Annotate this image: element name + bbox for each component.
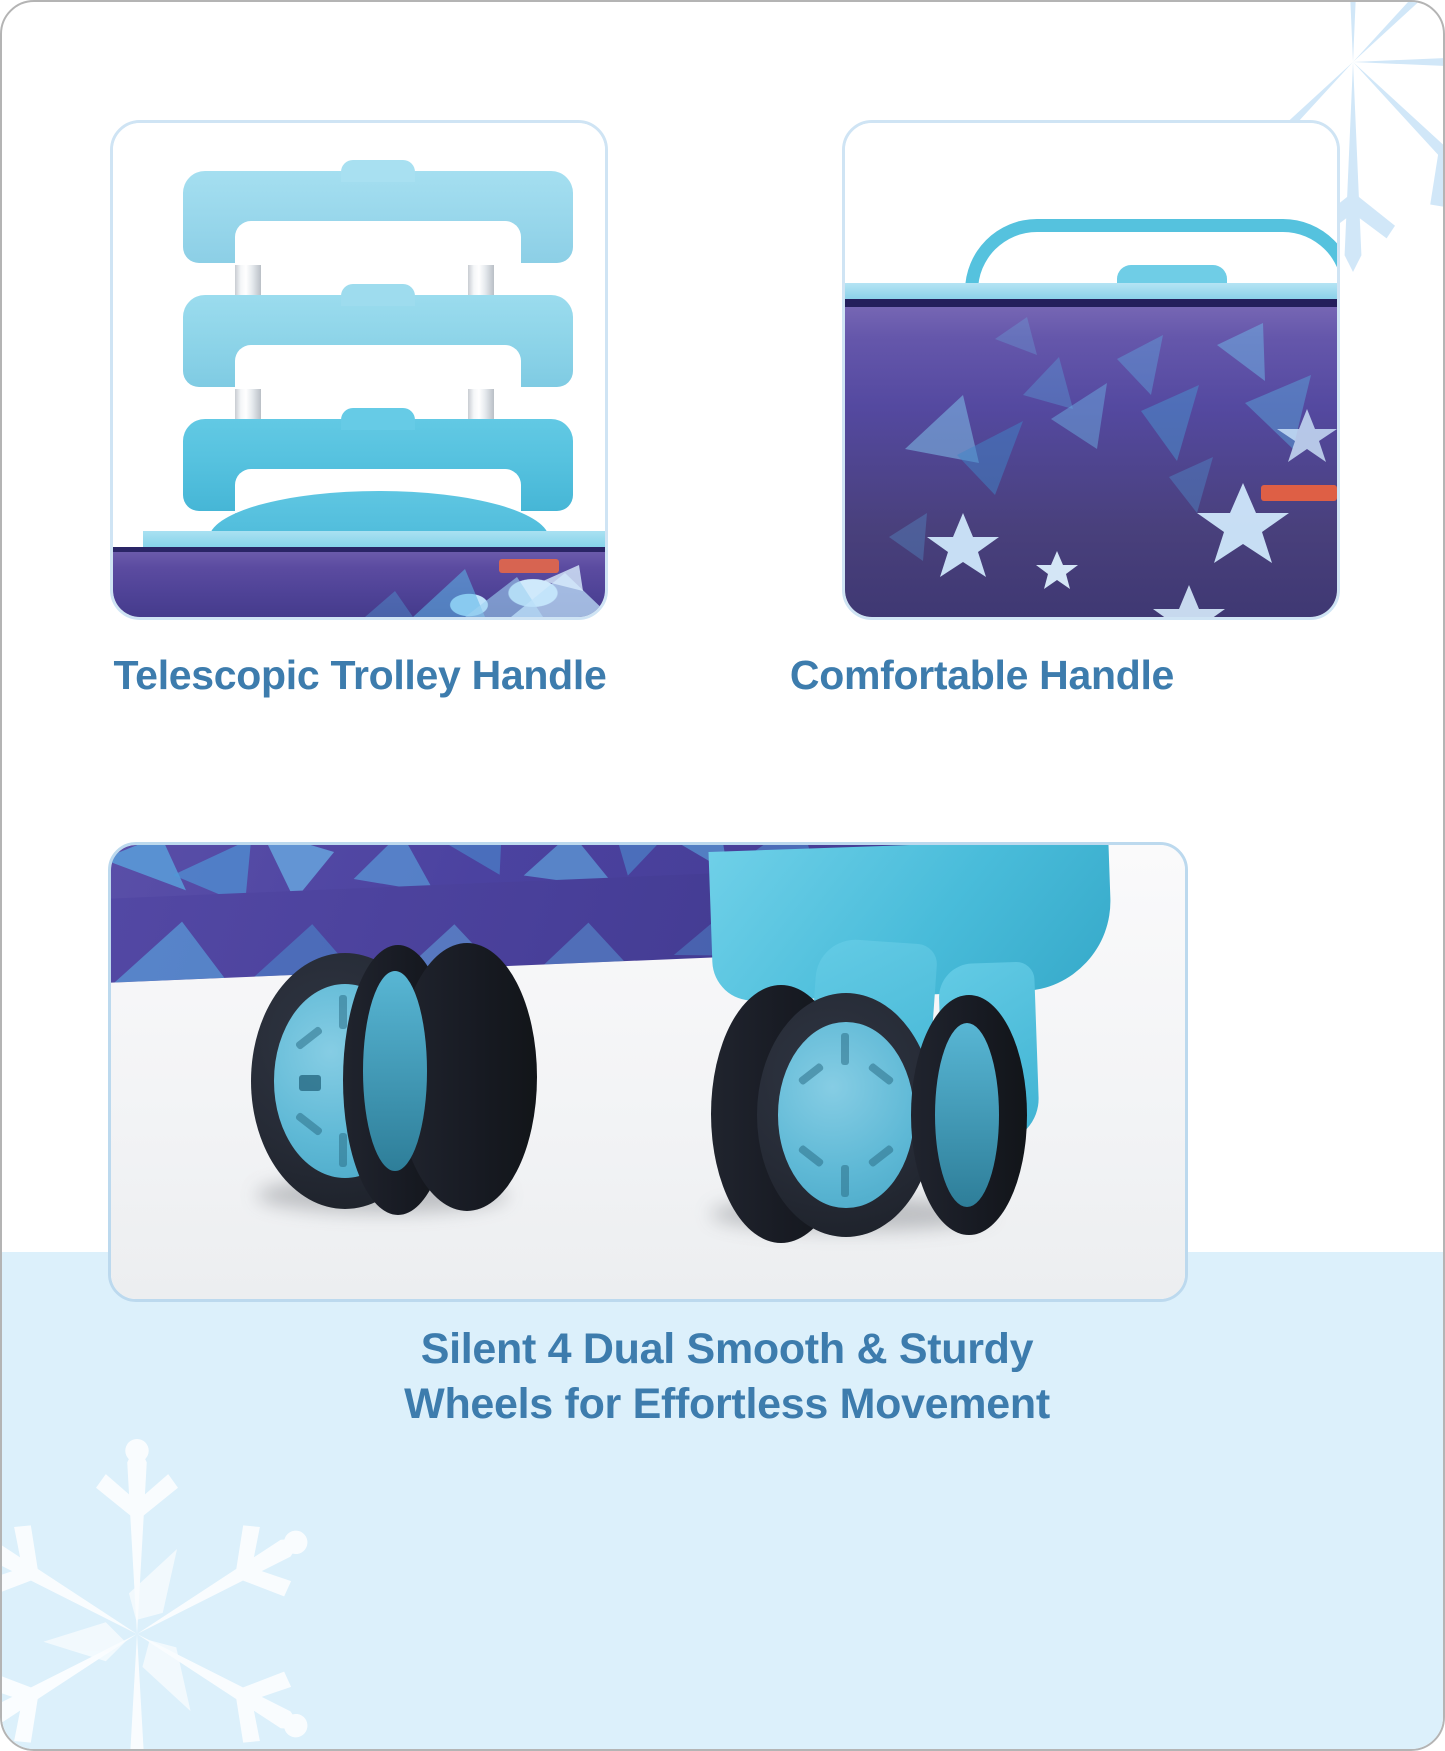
feature-image-spinner-wheels (108, 842, 1188, 1302)
handle-nub (341, 160, 415, 182)
trolley-handle-stage-1 (183, 171, 573, 263)
comfortable-handle-illustration (845, 123, 1337, 617)
shell-star-pattern (845, 299, 1337, 617)
handle-nub (341, 284, 415, 306)
shell-pattern (113, 547, 605, 617)
wheel-axle-right (935, 1023, 999, 1207)
product-feature-card: Telescopic Trolley Handle Comfortable Ha… (0, 0, 1445, 1751)
caption-line-2: Wheels for Effortless Movement (122, 1377, 1332, 1432)
wheels-illustration (111, 845, 1185, 1299)
telescopic-handle-illustration (113, 123, 605, 617)
feature-image-comfortable-handle (842, 120, 1340, 620)
wheel-front-right (757, 993, 935, 1237)
wheel-hub (778, 1022, 913, 1207)
wheel-axle-left (363, 971, 427, 1171)
case-shell-body (845, 299, 1337, 617)
handle-nub (341, 408, 415, 430)
feature-panels-row (110, 120, 1340, 620)
caption-comfortable-handle: Comfortable Handle (702, 650, 1262, 700)
case-shell-strip (113, 547, 605, 617)
caption-spinner-wheels: Silent 4 Dual Smooth & Sturdy Wheels for… (122, 1322, 1332, 1432)
trolley-handle-stage-2 (183, 295, 573, 387)
caption-line-1: Silent 4 Dual Smooth & Sturdy (122, 1322, 1332, 1377)
caption-telescopic-trolley: Telescopic Trolley Handle (110, 650, 610, 700)
feature-image-telescopic-trolley (110, 120, 608, 620)
